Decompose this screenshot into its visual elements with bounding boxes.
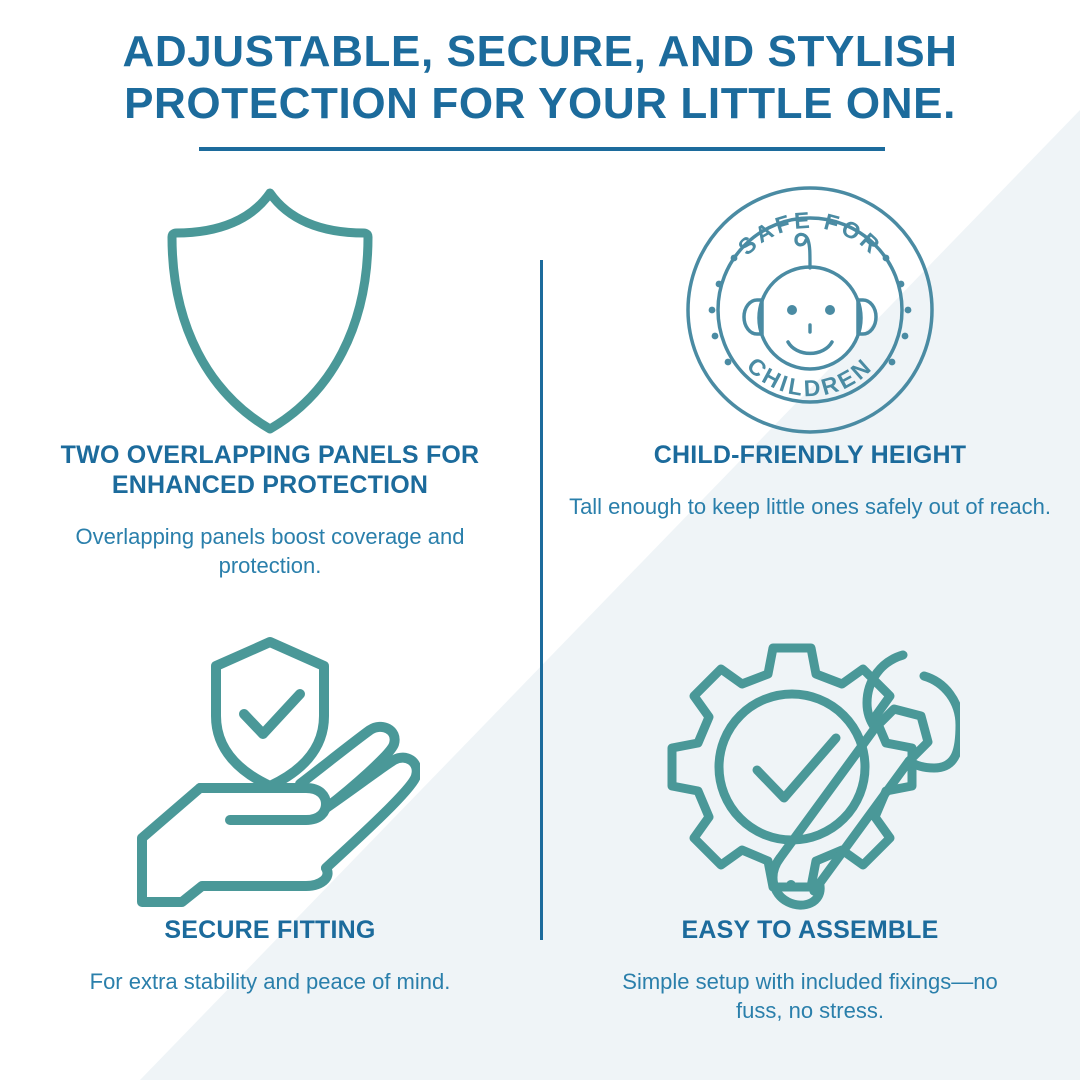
feature-card-panels: TWO OVERLAPPING PANELS FOR ENHANCED PROT…	[0, 180, 540, 600]
title-underline-divider	[199, 147, 885, 151]
feature-heading-panels: TWO OVERLAPPING PANELS FOR ENHANCED PROT…	[0, 440, 540, 500]
feature-body-fitting: For extra stability and peace of mind.	[0, 967, 540, 996]
shield-outline-icon	[160, 185, 380, 435]
feature-icon-wrap-fitting	[0, 625, 540, 915]
page-title-line-2: PROTECTION FOR YOUR LITTLE ONE.	[0, 78, 1080, 130]
feature-heading-height: CHILD-FRIENDLY HEIGHT	[540, 440, 1080, 470]
feature-card-height: SAFE FOR CHILDREN CH	[540, 180, 1080, 600]
page-header: ADJUSTABLE, SECURE, AND STYLISH PROTECTI…	[0, 26, 1080, 130]
badge-bottom-arc-text: CHILDREN	[742, 352, 878, 401]
feature-body-assemble: Simple setup with included fixings—no fu…	[540, 967, 1080, 1025]
hand-holding-shield-check-icon	[120, 630, 420, 910]
feature-heading-fitting: SECURE FITTING	[0, 915, 540, 945]
feature-body-height: Tall enough to keep little ones safely o…	[540, 492, 1080, 521]
feature-card-fitting: SECURE FITTING For extra stability and p…	[0, 625, 540, 1045]
feature-heading-assemble: EASY TO ASSEMBLE	[540, 915, 1080, 945]
feature-body-panels: Overlapping panels boost coverage and pr…	[0, 522, 540, 580]
feature-card-assemble: EASY TO ASSEMBLE Simple setup with inclu…	[540, 625, 1080, 1045]
safe-for-children-badge-icon: SAFE FOR CHILDREN	[684, 184, 936, 436]
column-divider	[540, 260, 543, 940]
gear-wrench-check-icon	[660, 630, 960, 910]
infographic-page: ADJUSTABLE, SECURE, AND STYLISH PROTECTI…	[0, 0, 1080, 1080]
feature-icon-wrap-assemble	[540, 625, 1080, 915]
feature-icon-wrap-height: SAFE FOR CHILDREN	[540, 180, 1080, 440]
page-title-line-1: ADJUSTABLE, SECURE, AND STYLISH	[0, 26, 1080, 78]
feature-icon-wrap-panels	[0, 180, 540, 440]
